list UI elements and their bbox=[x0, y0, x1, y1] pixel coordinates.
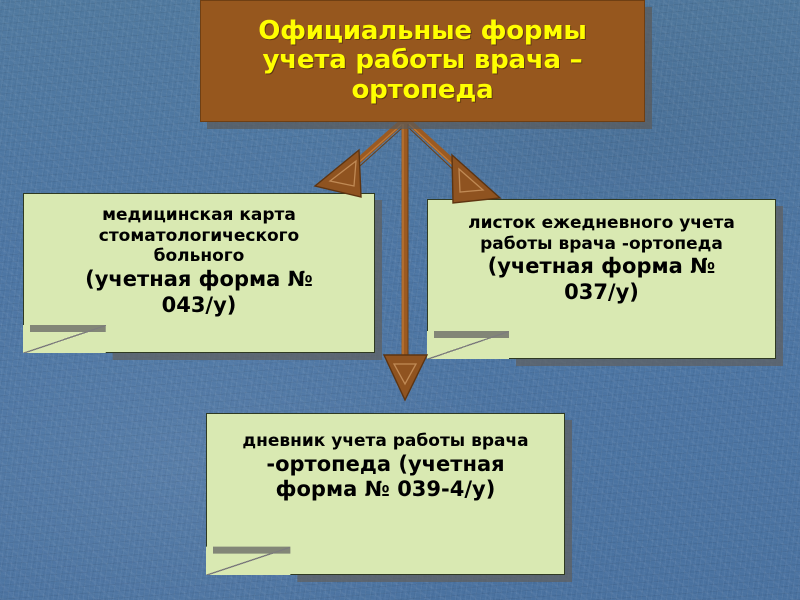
text-line: больного bbox=[154, 246, 245, 267]
title-text: Официальные формы учета работы врача – о… bbox=[244, 17, 600, 104]
medical-card-box: медицинская карта стоматологического бол… bbox=[23, 193, 375, 353]
daily-sheet-box: листок ежедневного учета работы врача -о… bbox=[427, 199, 776, 359]
arrow-to-left-box bbox=[315, 122, 402, 197]
text-line: дневник учета работы врача bbox=[242, 431, 528, 452]
slide-canvas: Официальные формы учета работы врача – о… bbox=[0, 0, 800, 600]
text-line: 043/у) bbox=[162, 293, 237, 319]
text-line: -ортопеда (учетная bbox=[266, 452, 504, 478]
title-line-1: Официальные формы bbox=[258, 17, 586, 46]
arrow-to-bottom-box bbox=[384, 122, 427, 400]
arrow-to-right-box bbox=[409, 122, 500, 203]
text-line: (учетная форма № bbox=[85, 267, 313, 293]
text-line: листок ежедневного учета bbox=[468, 213, 735, 234]
daily-sheet-text: листок ежедневного учета работы врача -о… bbox=[427, 199, 776, 359]
arrowhead-down-icon bbox=[384, 355, 427, 400]
arrowhead-left-icon bbox=[315, 150, 361, 197]
title-line-3: ортопеда bbox=[258, 76, 586, 105]
medical-card-text: медицинская карта стоматологического бол… bbox=[23, 193, 375, 353]
arrowhead-right-icon bbox=[452, 155, 500, 203]
diary-text: дневник учета работы врача -ортопеда (уч… bbox=[206, 413, 565, 575]
text-line: форма № 039-4/у) bbox=[276, 477, 496, 503]
title-line-2: учета работы врача – bbox=[258, 46, 586, 75]
diary-box: дневник учета работы врача -ортопеда (уч… bbox=[206, 413, 565, 575]
text-line: работы врача -ортопеда bbox=[480, 234, 723, 255]
text-line: медицинская карта bbox=[102, 205, 296, 226]
text-line: 037/у) bbox=[564, 280, 639, 306]
text-line: (учетная форма № bbox=[488, 254, 716, 280]
title-box: Официальные формы учета работы врача – о… bbox=[200, 0, 645, 122]
text-line: стоматологического bbox=[99, 226, 300, 247]
